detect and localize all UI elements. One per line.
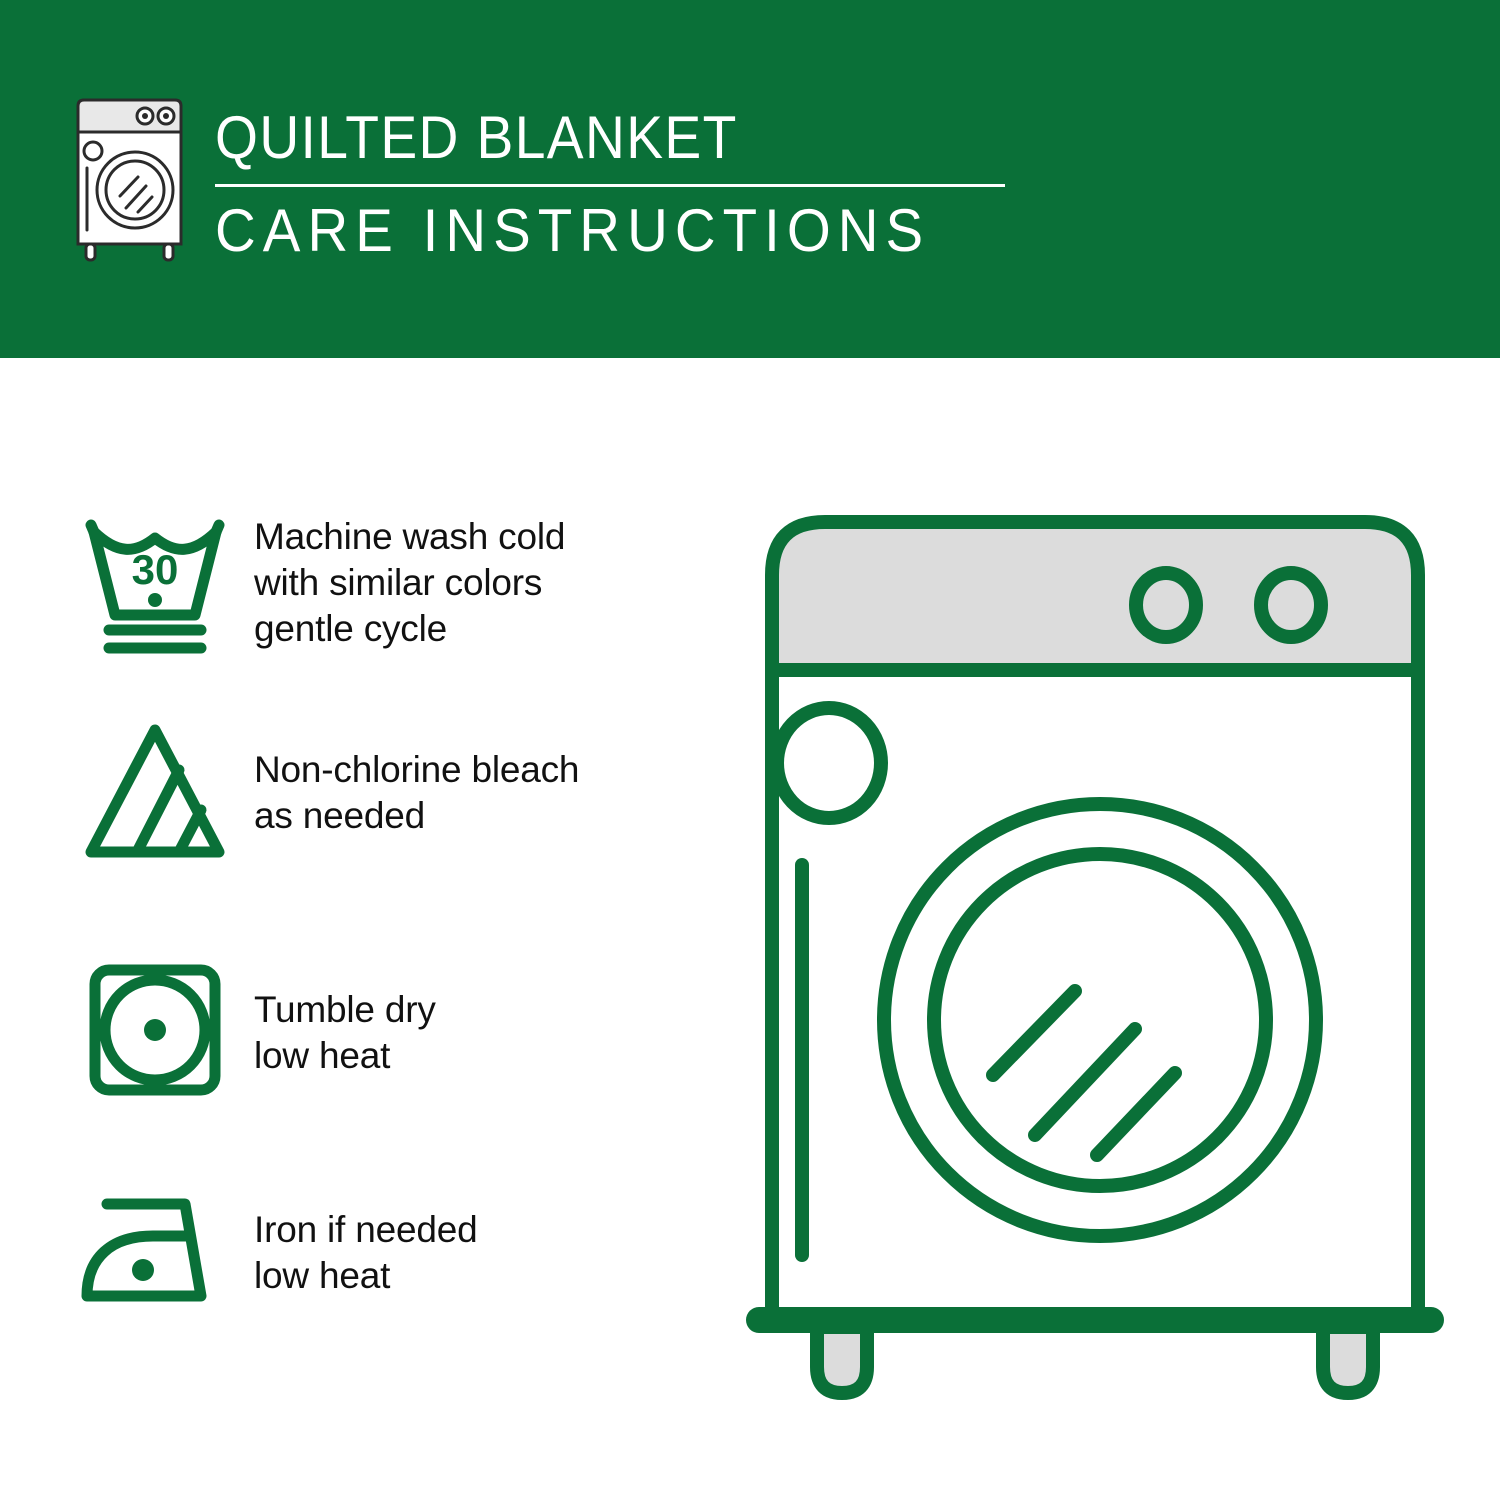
tumble-dry-low-icon: [70, 958, 240, 1108]
care-item-bleach: Non-chlorine bleach as needed: [70, 718, 710, 868]
title-divider: [215, 184, 1005, 187]
non-chlorine-bleach-triangle-icon: [70, 718, 240, 868]
care-item-label: Iron if needed low heat: [254, 1207, 477, 1299]
header-content: QUILTED BLANKET CARE INSTRUCTIONS: [62, 98, 1005, 266]
iron-low-heat-icon: [70, 1178, 240, 1328]
care-item-label: Machine wash cold with similar colors ge…: [254, 514, 565, 652]
page-subtitle: CARE INSTRUCTIONS: [215, 199, 958, 263]
page-title: QUILTED BLANKET: [215, 106, 942, 170]
care-item-iron: Iron if needed low heat: [70, 1178, 710, 1328]
wash-tub-30-gentle-icon: 30: [70, 508, 240, 658]
header-banner: QUILTED BLANKET CARE INSTRUCTIONS: [0, 0, 1500, 358]
machine-leg-right: [1323, 1327, 1373, 1393]
front-load-washing-machine-illustration: [745, 495, 1445, 1425]
care-instruction-list: 30 Machine wash cold with similar colors…: [0, 358, 740, 1500]
care-item-tumble-dry: Tumble dry low heat: [70, 958, 710, 1108]
wash-temperature-label: 30: [132, 546, 179, 593]
care-item-machine-wash: 30 Machine wash cold with similar colors…: [70, 508, 710, 658]
care-item-label: Non-chlorine bleach as needed: [254, 747, 579, 839]
washing-machine-icon: [62, 98, 197, 266]
care-item-label: Tumble dry low heat: [254, 987, 436, 1079]
header-text-block: QUILTED BLANKET CARE INSTRUCTIONS: [215, 98, 1005, 263]
machine-leg-left: [817, 1327, 867, 1393]
